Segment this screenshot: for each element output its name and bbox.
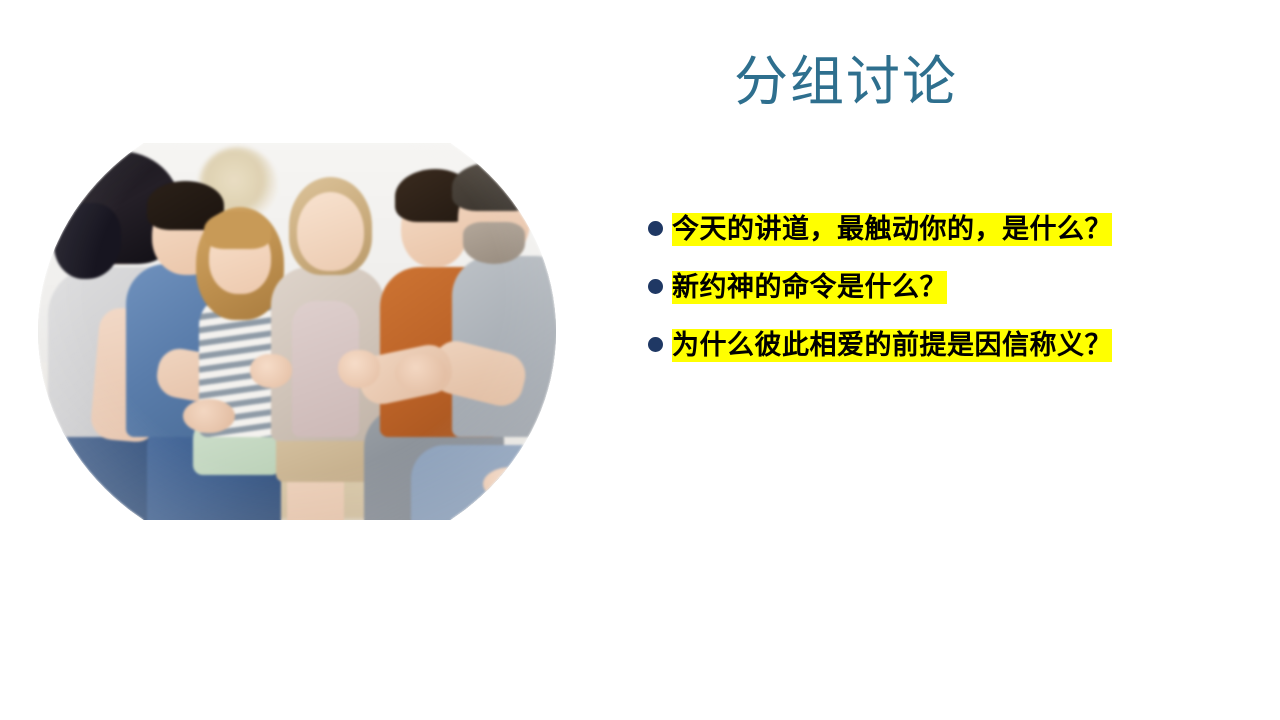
presentation-slide: 分组讨论 <box>0 0 1280 720</box>
clasped-hands-4 <box>183 399 235 433</box>
group-photo <box>38 143 556 520</box>
bullet-dot-icon <box>648 221 663 236</box>
list-item: 今天的讲道，最触动你的，是什么？ <box>648 212 1176 248</box>
person-1-hair-strand <box>54 203 121 278</box>
person-6-beard <box>463 222 525 263</box>
clasped-hands-5 <box>483 467 540 501</box>
clasped-hands-2 <box>338 350 379 388</box>
person-3-fringe <box>204 211 271 249</box>
question-2-text: 新约神的命令是什么？ <box>672 270 1176 306</box>
clasped-hands-3 <box>395 354 447 392</box>
list-item: 为什么彼此相爱的前提是因信称义？ <box>648 328 1176 364</box>
person-4-head <box>297 192 364 271</box>
slide-title: 分组讨论 <box>596 52 1096 111</box>
person-6-hair <box>452 162 535 211</box>
question-1-text: 今天的讲道，最触动你的，是什么？ <box>672 212 1176 248</box>
bullet-dot-icon <box>648 279 663 294</box>
discussion-question-list: 今天的讲道，最触动你的，是什么？ 新约神的命令是什么？ 为什么彼此相爱的前提是因… <box>648 212 1176 364</box>
group-photo-image <box>38 143 556 520</box>
list-item: 新约神的命令是什么？ <box>648 270 1176 306</box>
question-3-text: 为什么彼此相爱的前提是因信称义？ <box>672 328 1176 364</box>
bullet-dot-icon <box>648 337 663 352</box>
clasped-hands-1 <box>250 354 291 388</box>
